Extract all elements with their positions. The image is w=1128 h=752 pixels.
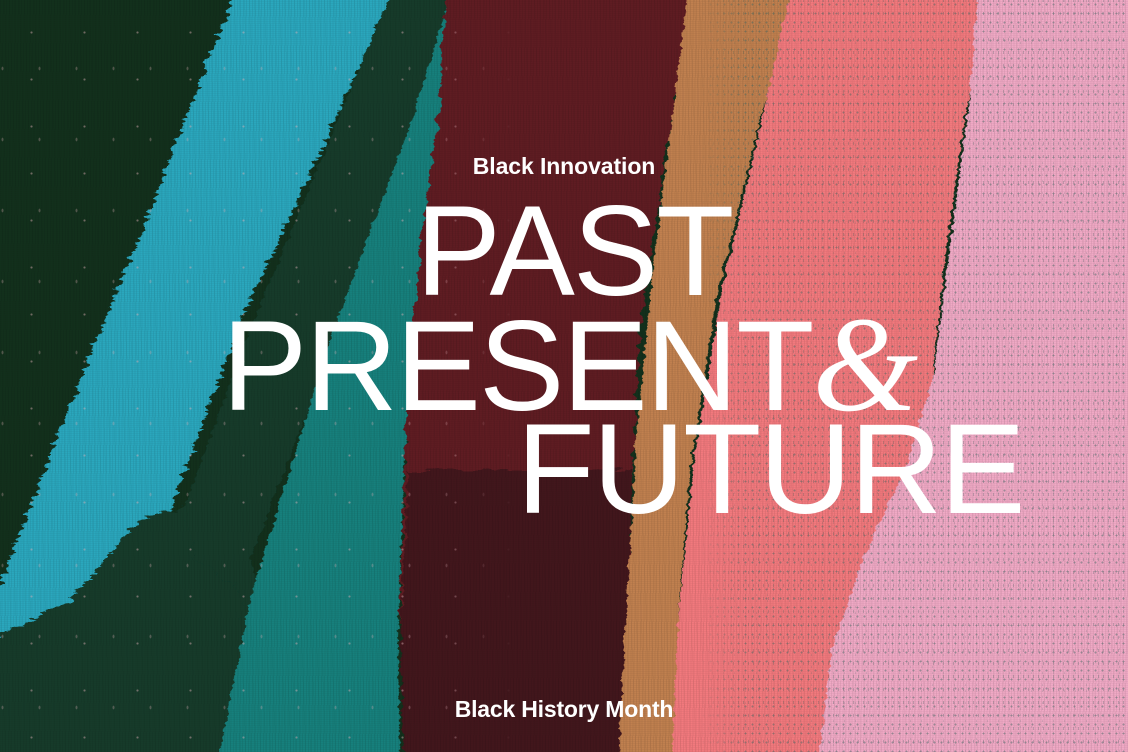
footer-text: Black History Month <box>0 698 1128 721</box>
eyebrow-text: Black Innovation <box>0 155 1128 178</box>
headline-line-past: PAST <box>0 196 1128 309</box>
black-history-month-poster: Black Innovation PAST PRESENT& FUTURE Bl… <box>0 0 1128 752</box>
poster-typography: Black Innovation PAST PRESENT& FUTURE Bl… <box>0 0 1128 752</box>
headline-line-future: FUTURE <box>0 414 1128 527</box>
